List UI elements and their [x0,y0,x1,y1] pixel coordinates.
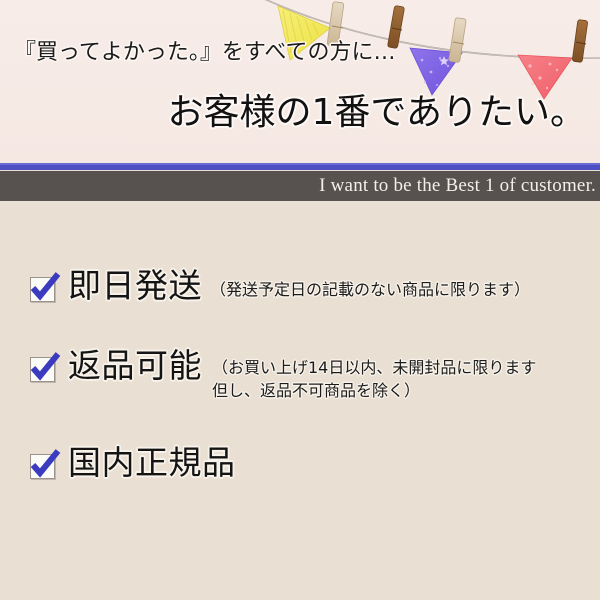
feature-item-domestic-genuine: 国内正規品 [0,446,600,481]
accent-divider-highlight [0,163,600,165]
feature-item-returns-accepted: 返品可能 （お買い上げ14日以内、未開封品に限ります 但し、返品不可商品を除く） [0,349,600,406]
checked-checkbox-icon [30,357,56,383]
feature-text-block: 返品可能 （お買い上げ14日以内、未開封品に限ります 但し、返品不可商品を除く） [68,349,536,406]
feature-note: （発送予定日の記載のない商品に限ります） [210,278,530,301]
feature-title: 即日発送 [68,269,202,304]
check-mark-icon [29,351,61,383]
hero-headline-large: お客様の1番でありたい。 [167,95,586,131]
check-mark-icon [29,448,61,480]
feature-note: （お買い上げ14日以内、未開封品に限ります 但し、返品不可商品を除く） [212,356,536,402]
feature-title: 返品可能 [68,349,202,384]
checked-checkbox-icon [30,454,56,480]
checked-checkbox-icon [30,277,56,303]
hero-background [0,0,600,163]
feature-item-same-day-shipping: 即日発送 （発送予定日の記載のない商品に限ります） [0,269,600,304]
feature-title: 国内正規品 [68,446,236,481]
features-section: 即日発送 （発送予定日の記載のない商品に限ります） 返品可能 （お買い上げ14日… [0,201,600,600]
feature-text-block: 即日発送 （発送予定日の記載のない商品に限ります） [68,269,530,304]
hero-headline-small: 『買ってよかった。』をすべての方に… [14,42,395,64]
feature-text-block: 国内正規品 [68,446,244,481]
tagline-bar: I want to be the Best 1 of customer. [0,171,600,201]
tagline-text: I want to be the Best 1 of customer. [319,171,596,201]
promo-banner-page: 『買ってよかった。』をすべての方に… お客様の1番でありたい。 I want t… [0,0,600,600]
check-mark-icon [29,271,61,303]
hero-section: 『買ってよかった。』をすべての方に… お客様の1番でありたい。 [0,0,600,163]
